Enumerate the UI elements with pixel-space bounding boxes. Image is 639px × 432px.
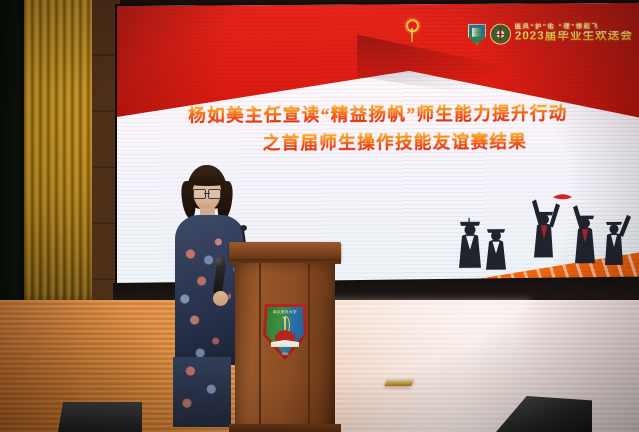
podium-mic-head-icon	[240, 225, 247, 231]
lens-right	[208, 189, 221, 199]
eyeglasses-icon	[193, 189, 221, 197]
microphone-head	[214, 257, 225, 267]
podium-panel-seam	[308, 263, 310, 432]
title-line-2: 之首届师生操作技能友谊赛结果	[117, 127, 639, 159]
podium-panel-seam	[259, 263, 261, 432]
stage-scene: 医风“护”佑 “理”想起飞 2023届毕业生欢送会 杨如美主任宣读“精益扬帆”师…	[0, 0, 639, 432]
lens-left	[193, 189, 206, 199]
banner-text-block: 医风“护”佑 “理”想起飞 2023届毕业生欢送会	[515, 24, 633, 43]
glasses-bridge	[204, 193, 210, 194]
hand	[213, 291, 228, 306]
nanjing-medical-university-crest-icon: 南京医科大学 1934	[263, 304, 307, 360]
floral-dress-skirt	[173, 357, 231, 427]
school-shield-logo-icon	[468, 24, 486, 45]
stage-monitor-left	[58, 402, 142, 432]
gold-pleated-curtain	[24, 0, 92, 330]
screen-main-title: 杨如美主任宣读“精益扬帆”师生能力提升行动 之首届师生操作技能友谊赛结果	[117, 99, 639, 159]
speaking-podium: 南京医科大学 1934	[229, 242, 341, 432]
nursing-emblem-logo-icon	[490, 24, 511, 45]
title-line-1: 杨如美主任宣读“精益扬帆”师生能力提升行动	[117, 99, 639, 131]
event-banner: 医风“护”佑 “理”想起飞 2023届毕业生欢送会	[468, 23, 633, 45]
graduating-students-silhouette	[422, 177, 637, 274]
podium-base	[229, 424, 341, 432]
banner-title: 2023届毕业生欢送会	[515, 31, 633, 43]
wood-wall-panel	[92, 0, 120, 300]
small-object-on-floor	[384, 378, 415, 386]
tassel-stem	[411, 28, 413, 42]
crest-founding-year: 1934	[263, 352, 307, 356]
